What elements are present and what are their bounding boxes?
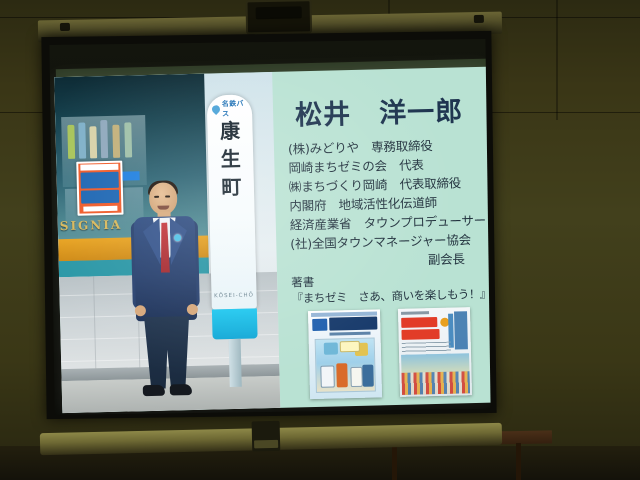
bus-stop-sign: 名鉄バス 康 生 町 KŌSEI-CHŌ bbox=[207, 94, 259, 365]
bus-stop-board: 名鉄バス 康 生 町 KŌSEI-CHŌ bbox=[207, 94, 257, 309]
bus-stop-romaji: KŌSEI-CHŌ bbox=[211, 292, 256, 299]
illustration-figure bbox=[324, 342, 338, 354]
person-photo bbox=[129, 182, 204, 402]
illustration-figure bbox=[340, 341, 360, 352]
bus-logo-mark-icon bbox=[210, 103, 221, 114]
screen-surface: SIGNIA bbox=[49, 39, 490, 415]
shop-sign-text: SIGNIA bbox=[60, 217, 130, 234]
shoe bbox=[143, 385, 165, 397]
slide-photo: SIGNIA bbox=[54, 72, 280, 413]
screen-mount-bracket bbox=[245, 0, 312, 34]
book-logo-icon bbox=[312, 319, 327, 331]
book-title-block bbox=[329, 316, 377, 330]
book-subtitle-block bbox=[329, 332, 370, 336]
book-illustration bbox=[315, 338, 376, 393]
shop-blue-tag bbox=[122, 171, 139, 180]
magazine-title-line2 bbox=[401, 329, 439, 340]
trousers bbox=[144, 316, 191, 389]
illustration-figure bbox=[362, 365, 374, 387]
illustration-figure bbox=[336, 363, 348, 387]
magazine-side-banner bbox=[454, 311, 468, 349]
poster-title-line1 bbox=[81, 172, 119, 189]
illustration-figure bbox=[350, 367, 362, 387]
shop-product bbox=[100, 120, 108, 158]
magazine-cover-machizemi-jirei bbox=[398, 307, 472, 397]
slide-text-column: 松井 洋一郎 (株)みどりや 専務取締役 岡崎まちゼミの会 代表 ㈱まちづくり岡… bbox=[276, 67, 490, 408]
meitetsu-bus-logo: 名鉄バス bbox=[212, 104, 247, 114]
shoe bbox=[170, 384, 192, 396]
bus-stop-name: 康 生 町 bbox=[207, 120, 254, 197]
wall-post bbox=[556, 0, 558, 120]
shop-product bbox=[124, 122, 132, 157]
table-leg bbox=[516, 443, 521, 480]
book-cover-machizemi bbox=[308, 309, 382, 399]
bus-operator-name: 名鉄バス bbox=[222, 98, 247, 119]
projection-screen-unit: SIGNIA bbox=[44, 16, 494, 436]
shop-product bbox=[67, 125, 75, 159]
shop-product bbox=[112, 125, 120, 158]
magazine-title-line1 bbox=[401, 317, 437, 328]
machizemi-poster bbox=[76, 161, 123, 216]
bus-stop-char: 康 bbox=[220, 121, 240, 141]
screen-pull-tab[interactable] bbox=[252, 421, 281, 452]
head bbox=[149, 182, 178, 215]
projection-screen: SIGNIA bbox=[41, 31, 496, 419]
poster-title-line2 bbox=[81, 190, 119, 204]
bus-stop-pole bbox=[229, 339, 242, 387]
projected-slide: SIGNIA bbox=[54, 67, 490, 413]
eye bbox=[154, 196, 159, 198]
poster-footer bbox=[83, 206, 117, 212]
eye bbox=[165, 195, 170, 197]
shop-product bbox=[89, 126, 97, 158]
credentials-list: (株)みどりや 専務取締役 岡崎まちゼミの会 代表 ㈱まちづくり岡崎 代表取締役… bbox=[288, 135, 487, 273]
screen-pull-tab-label bbox=[254, 440, 278, 449]
bus-stop-blue-panel bbox=[212, 308, 258, 339]
magazine-photo bbox=[401, 353, 470, 395]
bus-stop-char: 生 bbox=[220, 149, 240, 169]
illustration-figure bbox=[320, 365, 335, 387]
bus-stop-char: 町 bbox=[221, 177, 241, 197]
page-title: 松井 洋一郎 bbox=[295, 89, 464, 132]
works-label: 著書 bbox=[291, 274, 314, 291]
poster-cap bbox=[80, 164, 118, 171]
magazine-crowd bbox=[401, 371, 470, 395]
works-title: 『まちゼミ さあ、商いを楽しもう！』商業界 bbox=[291, 285, 490, 307]
magazine-header-block bbox=[401, 311, 429, 315]
book-covers bbox=[308, 307, 491, 399]
room-background: SIGNIA bbox=[0, 0, 640, 480]
shop-product bbox=[78, 123, 86, 159]
table-leg bbox=[392, 443, 397, 480]
mount-bracket-inner bbox=[256, 6, 302, 19]
